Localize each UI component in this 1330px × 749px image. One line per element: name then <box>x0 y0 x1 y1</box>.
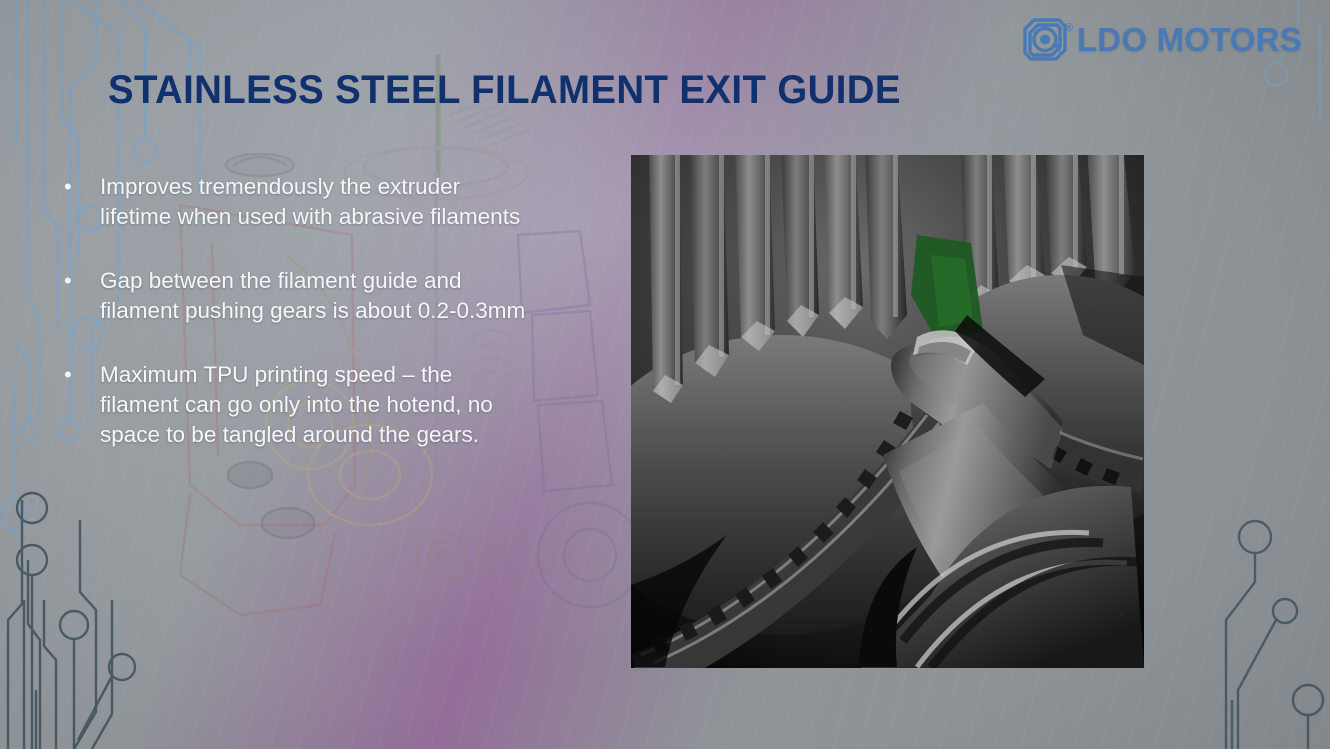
brand-logo: ® LDO MOTORS <box>1019 14 1302 64</box>
list-item-text: Maximum TPU printing speed – the filamen… <box>100 360 493 450</box>
presentation-slide: ® LDO MOTORS STAINLESS STEEL FILAMENT EX… <box>0 0 1330 749</box>
page-title: STAINLESS STEEL FILAMENT EXIT GUIDE <box>108 68 901 113</box>
registered-trademark-symbol: ® <box>1065 22 1073 34</box>
list-item: • Maximum TPU printing speed – the filam… <box>58 360 598 450</box>
bullet-list: • Improves tremendously the extruder lif… <box>58 172 598 450</box>
list-item-text: Gap between the filament guide and filam… <box>100 266 525 326</box>
bullet-marker: • <box>58 172 100 202</box>
ldo-square-circle-mark-icon <box>1019 14 1071 64</box>
brand-name: LDO MOTORS <box>1077 23 1302 56</box>
bullet-marker: • <box>58 266 100 296</box>
list-item: • Gap between the filament guide and fil… <box>58 266 598 326</box>
bullet-marker: • <box>58 360 100 390</box>
list-item-text: Improves tremendously the extruder lifet… <box>100 172 520 232</box>
product-photo <box>631 155 1144 668</box>
extruder-gears-macro-render <box>631 155 1144 668</box>
list-item: • Improves tremendously the extruder lif… <box>58 172 598 232</box>
